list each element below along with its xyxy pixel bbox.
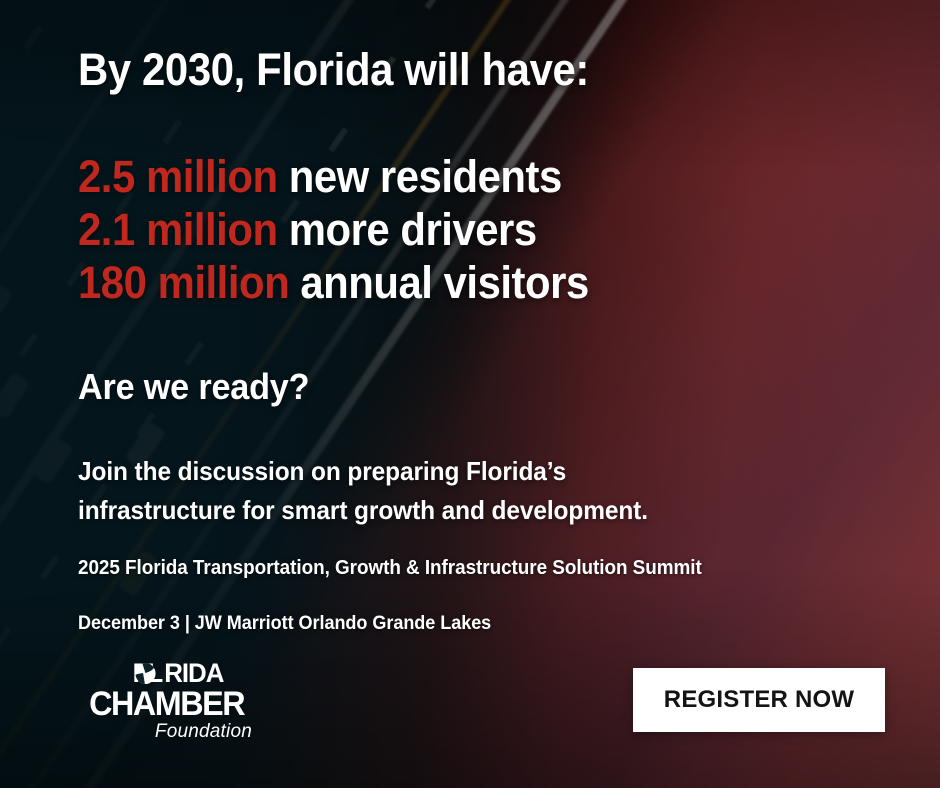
body-copy: Join the discussion on preparing Florida… (78, 452, 648, 530)
stat-number: 2.1 million (78, 204, 278, 255)
event-date-venue: December 3 | JW Marriott Orlando Grande … (78, 613, 491, 635)
logo-text-foundation: Foundation (155, 721, 252, 743)
florida-chamber-foundation-logo: FLRIDA CHAMBER Foundation (78, 660, 256, 738)
stat-label: annual visitors (300, 257, 588, 308)
body-copy-line-2: infrastructure for smart growth and deve… (78, 491, 648, 530)
register-now-button[interactable]: REGISTER NOW (633, 668, 885, 732)
stat-label: new residents (289, 151, 562, 202)
stat-label: more drivers (289, 204, 537, 255)
statistics-list: 2.5 million new residents 2.1 million mo… (78, 150, 627, 309)
logo-line-chamber: CHAMBER (78, 688, 256, 720)
logo-text-chamber: CHAMBER (89, 688, 244, 720)
orange-icon (135, 663, 155, 684)
list-item: 2.5 million new residents (78, 150, 589, 203)
question-heading: Are we ready? (78, 366, 309, 408)
advertisement-banner: By 2030, Florida will have: 2.5 million … (0, 0, 940, 788)
logo-text-rida: RIDA (164, 660, 223, 687)
list-item: 2.1 million more drivers (78, 203, 589, 256)
logo-line-foundation: Foundation (78, 721, 256, 743)
list-item: 180 million annual visitors (78, 256, 589, 309)
stat-number: 180 million (78, 257, 289, 308)
page-title: By 2030, Florida will have: (78, 44, 589, 96)
logo-line-florida: FLRIDA (78, 660, 256, 688)
body-copy-line-1: Join the discussion on preparing Florida… (78, 452, 648, 491)
stat-number: 2.5 million (78, 151, 278, 202)
event-name: 2025 Florida Transportation, Growth & In… (78, 557, 702, 580)
